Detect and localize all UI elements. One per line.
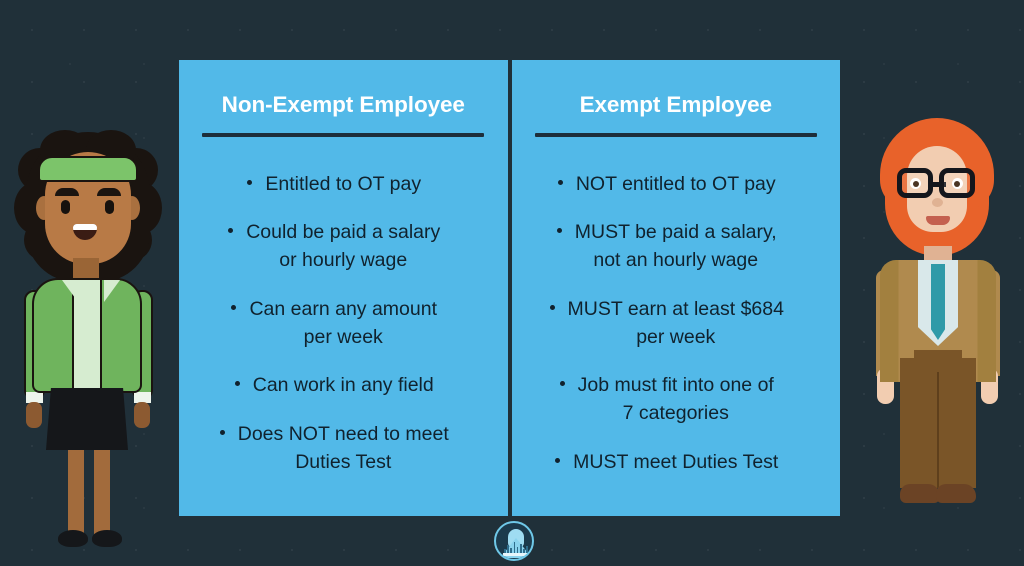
tie-icon (931, 264, 945, 340)
list-item: MUST meet Duties Test (573, 449, 778, 477)
column-non-exempt: Non-Exempt Employee Entitled to OT pay C… (179, 60, 508, 516)
footer-logo[interactable] (494, 521, 534, 561)
list-item-text: MUST earn at least $684 per week (568, 296, 784, 351)
list-item: NOT entitled to OT pay (576, 171, 776, 199)
logo-circle-icon (494, 521, 534, 561)
infographic-canvas: Non-Exempt Employee Entitled to OT pay C… (0, 0, 1024, 566)
pant-seam (937, 372, 939, 488)
list-item-text: NOT entitled to OT pay (576, 171, 776, 199)
shoe-right-icon (92, 530, 122, 547)
lapel-right (104, 280, 120, 302)
list-item-text: Can earn any amount per week (249, 296, 437, 351)
shoe-left-icon (58, 530, 88, 547)
list-item: Can earn any amount per week (249, 296, 437, 351)
shoe-right-icon (936, 484, 976, 503)
list-item-text: MUST meet Duties Test (573, 449, 778, 477)
hand-right (134, 402, 150, 428)
bullet-list-non-exempt: Entitled to OT pay Could be paid a salar… (195, 171, 492, 498)
woman-illustration (10, 130, 170, 520)
bullet-dot-icon (231, 305, 236, 310)
teeth-icon (73, 224, 97, 230)
man-illustration (858, 118, 1018, 518)
eye-icon (61, 200, 70, 214)
leg-right (94, 442, 110, 538)
pupil-icon (954, 181, 960, 187)
list-item-text: Could be paid a salary or hourly wage (246, 219, 440, 274)
mouth-icon (926, 216, 950, 225)
list-item-text: MUST be paid a salary, not an hourly wag… (575, 219, 777, 274)
eye-icon (105, 200, 114, 214)
bullet-dot-icon (220, 430, 225, 435)
column-title-non-exempt: Non-Exempt Employee (222, 93, 465, 118)
list-item-text: Entitled to OT pay (265, 171, 421, 199)
title-divider (535, 133, 817, 137)
pupil-icon (913, 181, 919, 187)
list-item: Could be paid a salary or hourly wage (246, 219, 440, 274)
hand-left (26, 402, 42, 428)
list-item: MUST earn at least $684 per week (568, 296, 784, 351)
column-exempt: Exempt Employee NOT entitled to OT pay M… (512, 60, 841, 516)
list-item-text: Job must fit into one of 7 categories (578, 372, 774, 427)
column-title-exempt: Exempt Employee (580, 93, 772, 118)
skirt-icon (46, 388, 128, 450)
bullet-dot-icon (560, 381, 565, 386)
eyebrow-icon (55, 188, 79, 196)
bullet-dot-icon (235, 381, 240, 386)
bullet-dot-icon (557, 228, 562, 233)
bullet-dot-icon (558, 180, 563, 185)
list-item: MUST be paid a salary, not an hourly wag… (575, 219, 777, 274)
list-item: Entitled to OT pay (265, 171, 421, 199)
comparison-card: Non-Exempt Employee Entitled to OT pay C… (179, 60, 840, 516)
logo-base-icon (503, 553, 529, 556)
logo-bar-chart-icon (504, 540, 528, 553)
nose-icon (932, 198, 943, 207)
bullet-list-exempt: NOT entitled to OT pay MUST be paid a sa… (528, 171, 825, 498)
title-divider (202, 133, 484, 137)
headband-icon (38, 156, 138, 182)
bullet-dot-icon (247, 180, 252, 185)
lapel-left (62, 280, 78, 302)
shoe-left-icon (900, 484, 940, 503)
bullet-dot-icon (555, 458, 560, 463)
leg-left (68, 442, 84, 538)
list-item-text: Can work in any field (253, 372, 434, 400)
list-item: Does NOT need to meet Duties Test (238, 421, 449, 476)
bullet-dot-icon (228, 228, 233, 233)
bullet-dot-icon (550, 305, 555, 310)
eyebrow-icon (97, 188, 121, 196)
list-item-text: Does NOT need to meet Duties Test (238, 421, 449, 476)
list-item: Can work in any field (253, 372, 434, 400)
list-item: Job must fit into one of 7 categories (578, 372, 774, 427)
